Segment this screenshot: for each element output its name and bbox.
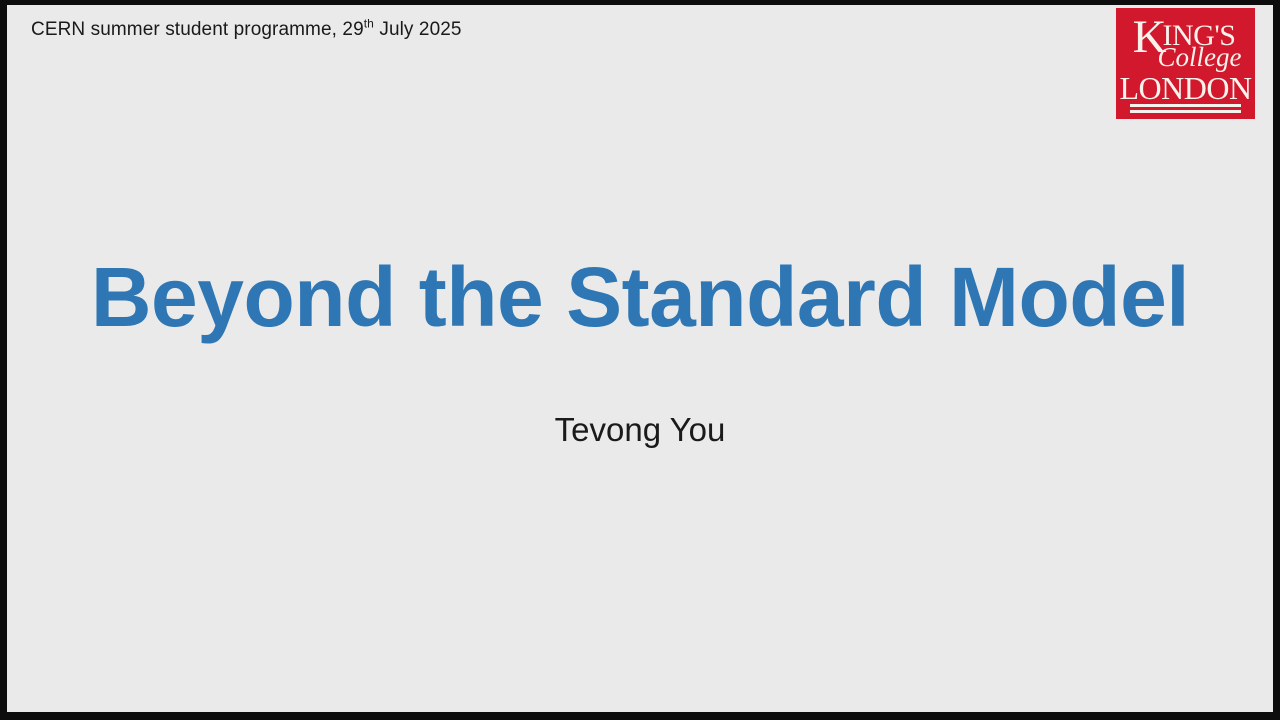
header-ordinal-suffix: th	[364, 17, 374, 31]
page-title: Beyond the Standard Model	[7, 253, 1273, 341]
logo-rule-bottom	[1130, 110, 1241, 113]
author-name: Tevong You	[7, 410, 1273, 450]
header-text-after: July 2025	[374, 19, 462, 40]
presentation-slide: CERN summer student programme, 29th July…	[7, 5, 1273, 712]
header-text-before: CERN summer student programme, 29	[31, 19, 364, 40]
logo-london-text: LONDON	[1116, 72, 1255, 104]
slide-viewer-frame: CERN summer student programme, 29th July…	[0, 0, 1280, 720]
slide-header-text: CERN summer student programme, 29th July…	[31, 18, 462, 42]
logo-rule-top	[1130, 104, 1241, 107]
kings-college-london-logo: KING'S College LONDON	[1116, 8, 1255, 119]
title-block: Beyond the Standard Model	[7, 253, 1273, 341]
logo-college-text: College	[1116, 44, 1255, 71]
